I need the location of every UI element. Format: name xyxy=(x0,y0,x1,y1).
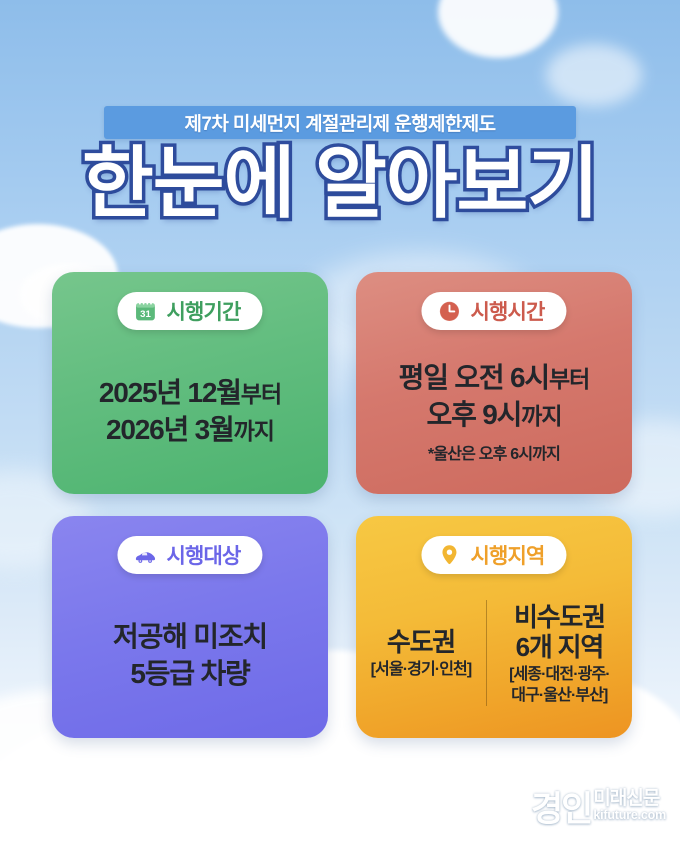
calendar-icon: 31 xyxy=(133,299,157,323)
subtitle-banner: 제7차 미세먼지 계절관리제 운행제한제도 xyxy=(104,106,576,139)
card-body-target: 저공해 미조치 5등급 차량 xyxy=(52,588,328,724)
card-grid: 31 시행기간 2025년 12월부터 2026년 3월까지 시행시간 xyxy=(52,272,632,738)
card-body-time: 평일 오전 6시부터 오후 9시까지 *울산은 오후 6시까지 xyxy=(356,344,632,480)
watermark-name: 미래신문 xyxy=(593,789,659,808)
card-line: 2026년 3월까지 xyxy=(106,412,274,449)
watermark-mark: 경인 xyxy=(531,794,591,826)
card-line-main: 평일 오전 6시 xyxy=(399,362,549,393)
card-line-suffix: 까지 xyxy=(521,403,561,429)
card-badge-region: 시행지역 xyxy=(421,536,566,574)
car-icon xyxy=(133,543,157,567)
card-line: 저공해 미조치 xyxy=(113,619,267,656)
card-line: 오후 9시까지 xyxy=(427,397,562,434)
card-line-main: 2025년 12월 xyxy=(99,377,241,408)
region-title: 수도권 xyxy=(387,627,455,657)
region-column-capital: 수도권 [서울·경기·인천] xyxy=(356,627,486,681)
cloud-decoration xyxy=(438,0,558,58)
card-note: *울산은 오후 6시까지 xyxy=(428,440,560,464)
card-line: 2025년 12월부터 xyxy=(99,375,281,412)
watermark-logo: 경인 미래신문 kifuture.com xyxy=(531,789,666,826)
region-title: 비수도권 xyxy=(514,602,605,632)
card-line: 5등급 차량 xyxy=(130,656,249,693)
card-target: 시행대상 저공해 미조치 5등급 차량 xyxy=(52,516,328,738)
location-pin-icon xyxy=(437,543,461,567)
region-subtitle: [서울·경기·인천] xyxy=(371,660,472,681)
watermark-url: kifuture.com xyxy=(593,808,666,824)
card-time: 시행시간 평일 오전 6시부터 오후 9시까지 *울산은 오후 6시까지 xyxy=(356,272,632,494)
card-line: 평일 오전 6시부터 xyxy=(399,360,590,397)
card-badge-time: 시행시간 xyxy=(421,292,566,330)
page-title: 한눈에 알아보기 xyxy=(0,144,680,224)
card-line-suffix: 까지 xyxy=(234,418,274,444)
card-body-period: 2025년 12월부터 2026년 3월까지 xyxy=(52,344,328,480)
region-subtitle: [세종·대전·광주· xyxy=(509,665,610,686)
card-line-suffix: 부터 xyxy=(549,366,589,392)
infographic-poster: 제7차 미세먼지 계절관리제 운행제한제도 한눈에 알아보기 31 시행기간 2… xyxy=(0,0,680,850)
card-badge-label: 시행시간 xyxy=(470,296,544,326)
calendar-day-number: 31 xyxy=(140,309,151,320)
card-badge-period: 31 시행기간 xyxy=(117,292,262,330)
clock-icon xyxy=(437,299,461,323)
card-line-main: 2026년 3월 xyxy=(106,414,234,445)
region-title: 6개 지역 xyxy=(516,632,603,662)
card-badge-label: 시행지역 xyxy=(470,540,544,570)
card-line-suffix: 부터 xyxy=(241,381,281,407)
card-line-main: 오후 9시 xyxy=(427,399,522,430)
watermark-text-block: 미래신문 kifuture.com xyxy=(593,789,666,826)
card-period: 31 시행기간 2025년 12월부터 2026년 3월까지 xyxy=(52,272,328,494)
card-badge-target: 시행대상 xyxy=(117,536,262,574)
region-subtitle: 대구·울산·부산] xyxy=(511,686,607,707)
card-body-region: 수도권 [서울·경기·인천] 비수도권 6개 지역 [세종·대전·광주· 대구·… xyxy=(356,584,632,724)
card-badge-label: 시행기간 xyxy=(166,296,240,326)
card-region: 시행지역 수도권 [서울·경기·인천] 비수도권 6개 지역 [세종·대전·광주… xyxy=(356,516,632,738)
subtitle-text: 제7차 미세먼지 계절관리제 운행제한제도 xyxy=(185,109,496,136)
cloud-decoration xyxy=(546,44,642,106)
card-badge-label: 시행대상 xyxy=(166,540,240,570)
region-column-noncapital: 비수도권 6개 지역 [세종·대전·광주· 대구·울산·부산] xyxy=(487,602,632,707)
